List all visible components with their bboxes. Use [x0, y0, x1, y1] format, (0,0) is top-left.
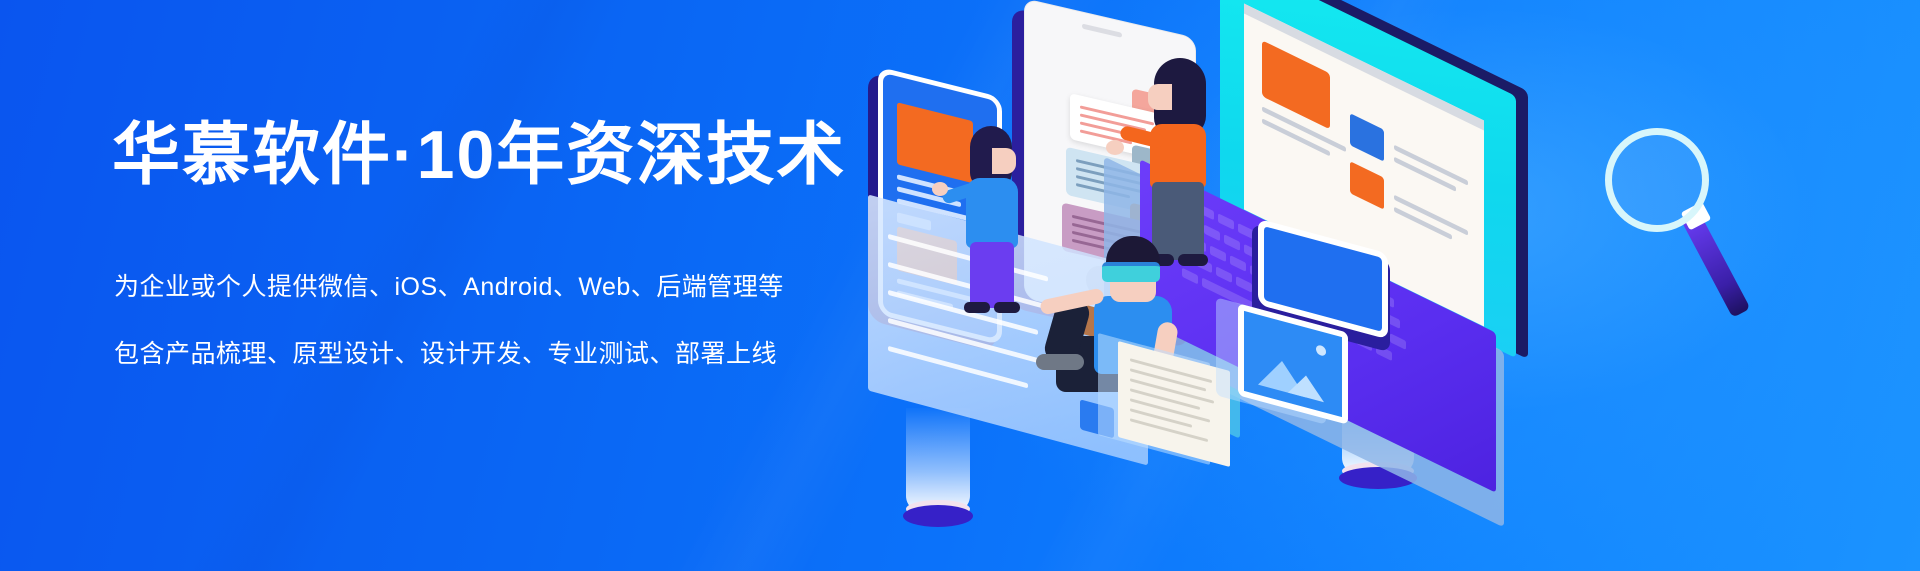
subtitle-line-1: 为企业或个人提供微信、iOS、Android、Web、后端管理等 [114, 267, 784, 303]
hand [932, 182, 948, 196]
doc-line [1130, 408, 1192, 428]
legs [970, 242, 1014, 308]
magnifier-icon [1605, 128, 1709, 232]
pedestal-base [903, 505, 973, 527]
hand [1106, 140, 1124, 155]
laptop-orange-block [1350, 161, 1384, 210]
hero-illustration [860, 0, 1920, 571]
face [992, 148, 1016, 174]
mountain-icon [1288, 371, 1324, 403]
subtitle-line-2: 包含产品梳理、原型设计、设计开发、专业测试、部署上线 [114, 334, 777, 370]
banner-copy: 华慕软件·10年资深技术 为企业或个人提供微信、iOS、Android、Web、… [112, 0, 872, 571]
person-at-phone [952, 126, 1042, 316]
vr-headset-icon [1102, 262, 1160, 282]
shoe [964, 302, 990, 313]
laptop-blue-block [1350, 113, 1384, 162]
hero-banner: 华慕软件·10年资深技术 为企业或个人提供微信、iOS、Android、Web、… [0, 0, 1920, 571]
face [1148, 84, 1172, 110]
shoe [994, 302, 1020, 313]
sun-icon [1316, 344, 1326, 357]
key [1390, 333, 1406, 350]
shoe [1036, 354, 1084, 370]
pedestal [906, 408, 970, 518]
page-title: 华慕软件·10年资深技术 [112, 116, 846, 194]
tablet-speaker [1082, 24, 1122, 38]
